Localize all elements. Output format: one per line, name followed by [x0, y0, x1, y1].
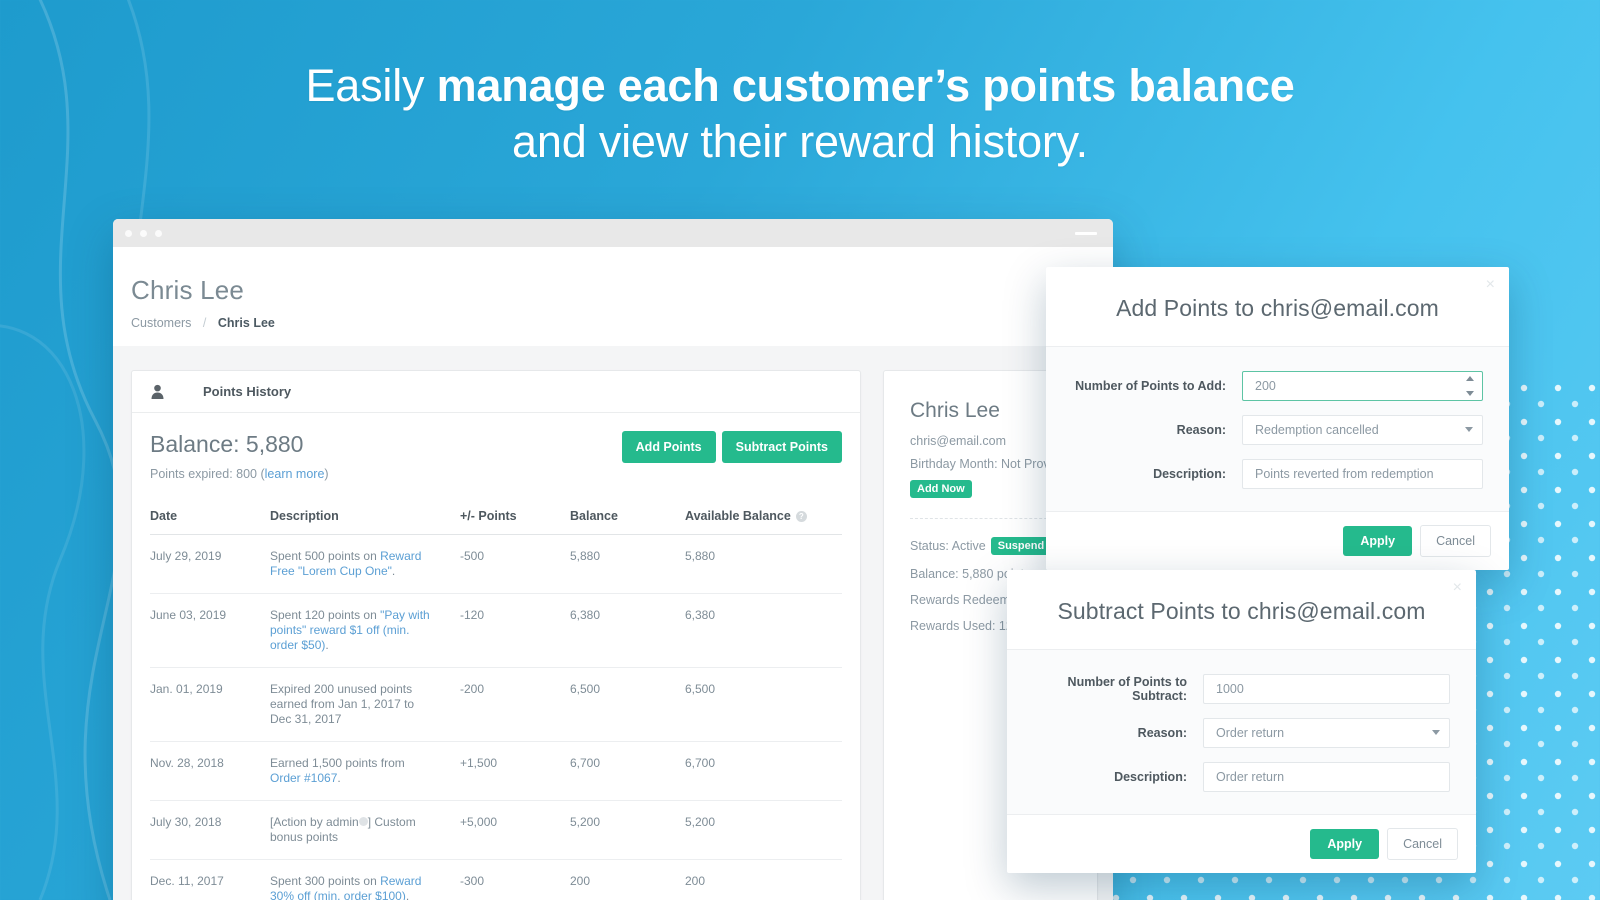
cell-available-balance: 6,380 [685, 594, 842, 668]
cell-date: July 29, 2019 [150, 535, 270, 594]
column-header-description: Description [270, 509, 460, 535]
subtract-points-reason-field-wrap [1203, 718, 1450, 748]
add-points-modal-body: Number of Points to Add: Reason: Descrip… [1046, 346, 1509, 512]
description-text: [Action by admin [270, 815, 359, 829]
description-tail: . [392, 564, 395, 578]
subtract-points-cancel-button[interactable]: Cancel [1387, 828, 1458, 860]
breadcrumb-customers-link[interactable]: Customers [131, 316, 191, 330]
subtract-points-apply-button[interactable]: Apply [1310, 829, 1379, 859]
table-row: July 29, 2019Spent 500 points on Reward … [150, 535, 842, 594]
description-tail: . [337, 771, 340, 785]
column-header-date: Date [150, 509, 270, 535]
headline-line-1-light: Easily [305, 60, 436, 111]
points-history-title: Points History [203, 384, 291, 399]
person-icon [150, 384, 165, 399]
table-row: Jan. 01, 2019Expired 200 unused points e… [150, 668, 842, 742]
add-points-modal-header: Add Points to chris@email.com × [1046, 267, 1509, 346]
description-text: Spent 500 points on [270, 549, 380, 563]
cell-description: Spent 120 points on "Pay with points" re… [270, 594, 460, 668]
subtract-points-description-label: Description: [1033, 770, 1203, 784]
cell-date: June 03, 2019 [150, 594, 270, 668]
minimize-line-icon[interactable] [1075, 232, 1097, 235]
cell-date: Nov. 28, 2018 [150, 742, 270, 801]
cell-date: Jan. 01, 2019 [150, 668, 270, 742]
breadcrumb-current: Chris Lee [218, 316, 275, 330]
add-points-reason-select[interactable] [1242, 415, 1483, 445]
close-icon[interactable]: × [1486, 277, 1495, 293]
points-history-body: Balance: 5,880 Points expired: 800 (lear… [132, 413, 860, 900]
table-row: Dec. 11, 2017Spent 300 points on Reward … [150, 860, 842, 900]
add-points-description-label: Description: [1072, 467, 1242, 481]
description-text: Spent 120 points on [270, 608, 380, 622]
cell-balance: 6,380 [570, 594, 685, 668]
headline-line-1-bold: manage each customer’s points balance [437, 60, 1295, 111]
add-points-modal-title: Add Points to chris@email.com [1046, 295, 1509, 322]
add-now-button[interactable]: Add Now [910, 480, 972, 498]
suspend-button[interactable]: Suspend [991, 537, 1051, 555]
customer-status-label: Status: Active [910, 539, 986, 553]
add-points-number-row: Number of Points to Add: [1072, 371, 1483, 401]
subtract-points-number-row: Number of Points to Subtract: [1033, 674, 1450, 704]
add-points-cancel-button[interactable]: Cancel [1420, 525, 1491, 557]
add-points-number-input[interactable] [1242, 371, 1483, 401]
cell-date: Dec. 11, 2017 [150, 860, 270, 900]
cell-points: -200 [460, 668, 570, 742]
description-text: Spent 300 points on [270, 874, 380, 888]
window-minimize-dot-icon[interactable] [140, 230, 147, 237]
breadcrumb: Customers / Chris Lee [131, 316, 1113, 330]
table-header-row: Date Description +/- Points Balance Avai… [150, 509, 842, 535]
cell-balance: 5,880 [570, 535, 685, 594]
admin-avatar-icon [359, 817, 368, 826]
add-points-button[interactable]: Add Points [622, 431, 716, 463]
cell-points: -120 [460, 594, 570, 668]
cell-balance: 6,500 [570, 668, 685, 742]
column-header-balance: Balance [570, 509, 685, 535]
page-header: Chris Lee Customers / Chris Lee [113, 247, 1113, 346]
cell-available-balance: 6,500 [685, 668, 842, 742]
subtract-points-modal-footer: Apply Cancel [1007, 815, 1476, 873]
column-header-available-balance: Available Balance? [685, 509, 842, 535]
cell-date: July 30, 2018 [150, 801, 270, 860]
headline: Easily manage each customer’s points bal… [0, 58, 1600, 170]
headline-line-2: and view their reward history. [0, 114, 1600, 170]
number-stepper-icon[interactable] [1466, 376, 1476, 396]
subtract-points-modal-title: Subtract Points to chris@email.com [1007, 598, 1476, 625]
cell-points: +5,000 [460, 801, 570, 860]
browser-titlebar [113, 219, 1113, 247]
balance-row: Balance: 5,880 Points expired: 800 (lear… [150, 431, 842, 481]
table-row: Nov. 28, 2018Earned 1,500 points from Or… [150, 742, 842, 801]
subtract-points-modal-header: Subtract Points to chris@email.com × [1007, 570, 1476, 649]
description-link[interactable]: Order #1067 [270, 771, 337, 785]
cell-available-balance: 5,200 [685, 801, 842, 860]
subtract-points-number-label: Number of Points to Subtract: [1033, 675, 1203, 703]
add-points-apply-button[interactable]: Apply [1343, 526, 1412, 556]
add-points-number-field-wrap [1242, 371, 1483, 401]
page-title: Chris Lee [131, 275, 1113, 306]
add-points-description-input[interactable] [1242, 459, 1483, 489]
help-icon[interactable]: ? [796, 511, 807, 522]
subtract-points-description-row: Description: [1033, 762, 1450, 792]
cell-points: -500 [460, 535, 570, 594]
cell-description: Spent 500 points on Reward Free "Lorem C… [270, 535, 460, 594]
description-text: Earned 1,500 points from [270, 756, 405, 770]
points-expired-text: Points expired: 800 ( [150, 467, 265, 481]
cell-balance: 5,200 [570, 801, 685, 860]
balance-block: Balance: 5,880 Points expired: 800 (lear… [150, 431, 329, 481]
cell-description: Spent 300 points on Reward 30% off (min.… [270, 860, 460, 900]
table-row: June 03, 2019Spent 120 points on "Pay wi… [150, 594, 842, 668]
description-tail: . [325, 638, 328, 652]
subtract-points-reason-row: Reason: [1033, 718, 1450, 748]
close-icon[interactable]: × [1453, 580, 1462, 596]
browser-window: Chris Lee Customers / Chris Lee Points H… [113, 219, 1113, 900]
points-history-card-header: Points History [132, 371, 860, 413]
subtract-points-modal: Subtract Points to chris@email.com × Num… [1007, 570, 1476, 873]
balance-value: Balance: 5,880 [150, 431, 329, 458]
add-points-reason-field-wrap [1242, 415, 1483, 445]
cell-available-balance: 5,880 [685, 535, 842, 594]
add-points-reason-label: Reason: [1072, 423, 1242, 437]
subtract-points-number-field-wrap [1203, 674, 1450, 704]
cell-balance: 200 [570, 860, 685, 900]
headline-line-1: Easily manage each customer’s points bal… [0, 58, 1600, 114]
subtract-points-description-input[interactable] [1203, 762, 1450, 792]
page-body: Points History Balance: 5,880 Points exp… [113, 346, 1113, 900]
points-expired-close: ) [324, 467, 328, 481]
table-body: July 29, 2019Spent 500 points on Reward … [150, 535, 842, 900]
subtract-points-description-field-wrap [1203, 762, 1450, 792]
breadcrumb-separator: / [203, 316, 206, 330]
points-history-card: Points History Balance: 5,880 Points exp… [131, 370, 861, 900]
subtract-points-number-input[interactable] [1203, 674, 1450, 704]
cell-available-balance: 6,700 [685, 742, 842, 801]
learn-more-link[interactable]: learn more [265, 467, 325, 481]
cell-balance: 6,700 [570, 742, 685, 801]
description-tail: . [406, 889, 409, 900]
add-points-description-field-wrap [1242, 459, 1483, 489]
subtract-points-button[interactable]: Subtract Points [722, 431, 842, 463]
add-points-description-row: Description: [1072, 459, 1483, 489]
points-history-table: Date Description +/- Points Balance Avai… [150, 509, 842, 900]
cell-points: -300 [460, 860, 570, 900]
subtract-points-reason-select[interactable] [1203, 718, 1450, 748]
points-expired: Points expired: 800 (learn more) [150, 467, 329, 481]
column-header-available-balance-label: Available Balance [685, 509, 791, 523]
column-header-points: +/- Points [460, 509, 570, 535]
add-points-modal-footer: Apply Cancel [1046, 512, 1509, 570]
cell-points: +1,500 [460, 742, 570, 801]
add-points-modal: Add Points to chris@email.com × Number o… [1046, 267, 1509, 570]
add-points-reason-row: Reason: [1072, 415, 1483, 445]
description-text: Expired 200 unused points earned from Ja… [270, 682, 414, 726]
subtract-points-reason-label: Reason: [1033, 726, 1203, 740]
cell-description: Expired 200 unused points earned from Ja… [270, 668, 460, 742]
cell-description: Earned 1,500 points from Order #1067. [270, 742, 460, 801]
table-header: Date Description +/- Points Balance Avai… [150, 509, 842, 535]
window-maximize-dot-icon[interactable] [155, 230, 162, 237]
window-close-dot-icon[interactable] [125, 230, 132, 237]
points-action-buttons: Add Points Subtract Points [622, 431, 842, 463]
cell-description: [Action by admin] Custom bonus points [270, 801, 460, 860]
add-points-number-label: Number of Points to Add: [1072, 379, 1242, 393]
subtract-points-modal-body: Number of Points to Subtract: Reason: De… [1007, 649, 1476, 815]
table-row: July 30, 2018[Action by admin] Custom bo… [150, 801, 842, 860]
cell-available-balance: 200 [685, 860, 842, 900]
